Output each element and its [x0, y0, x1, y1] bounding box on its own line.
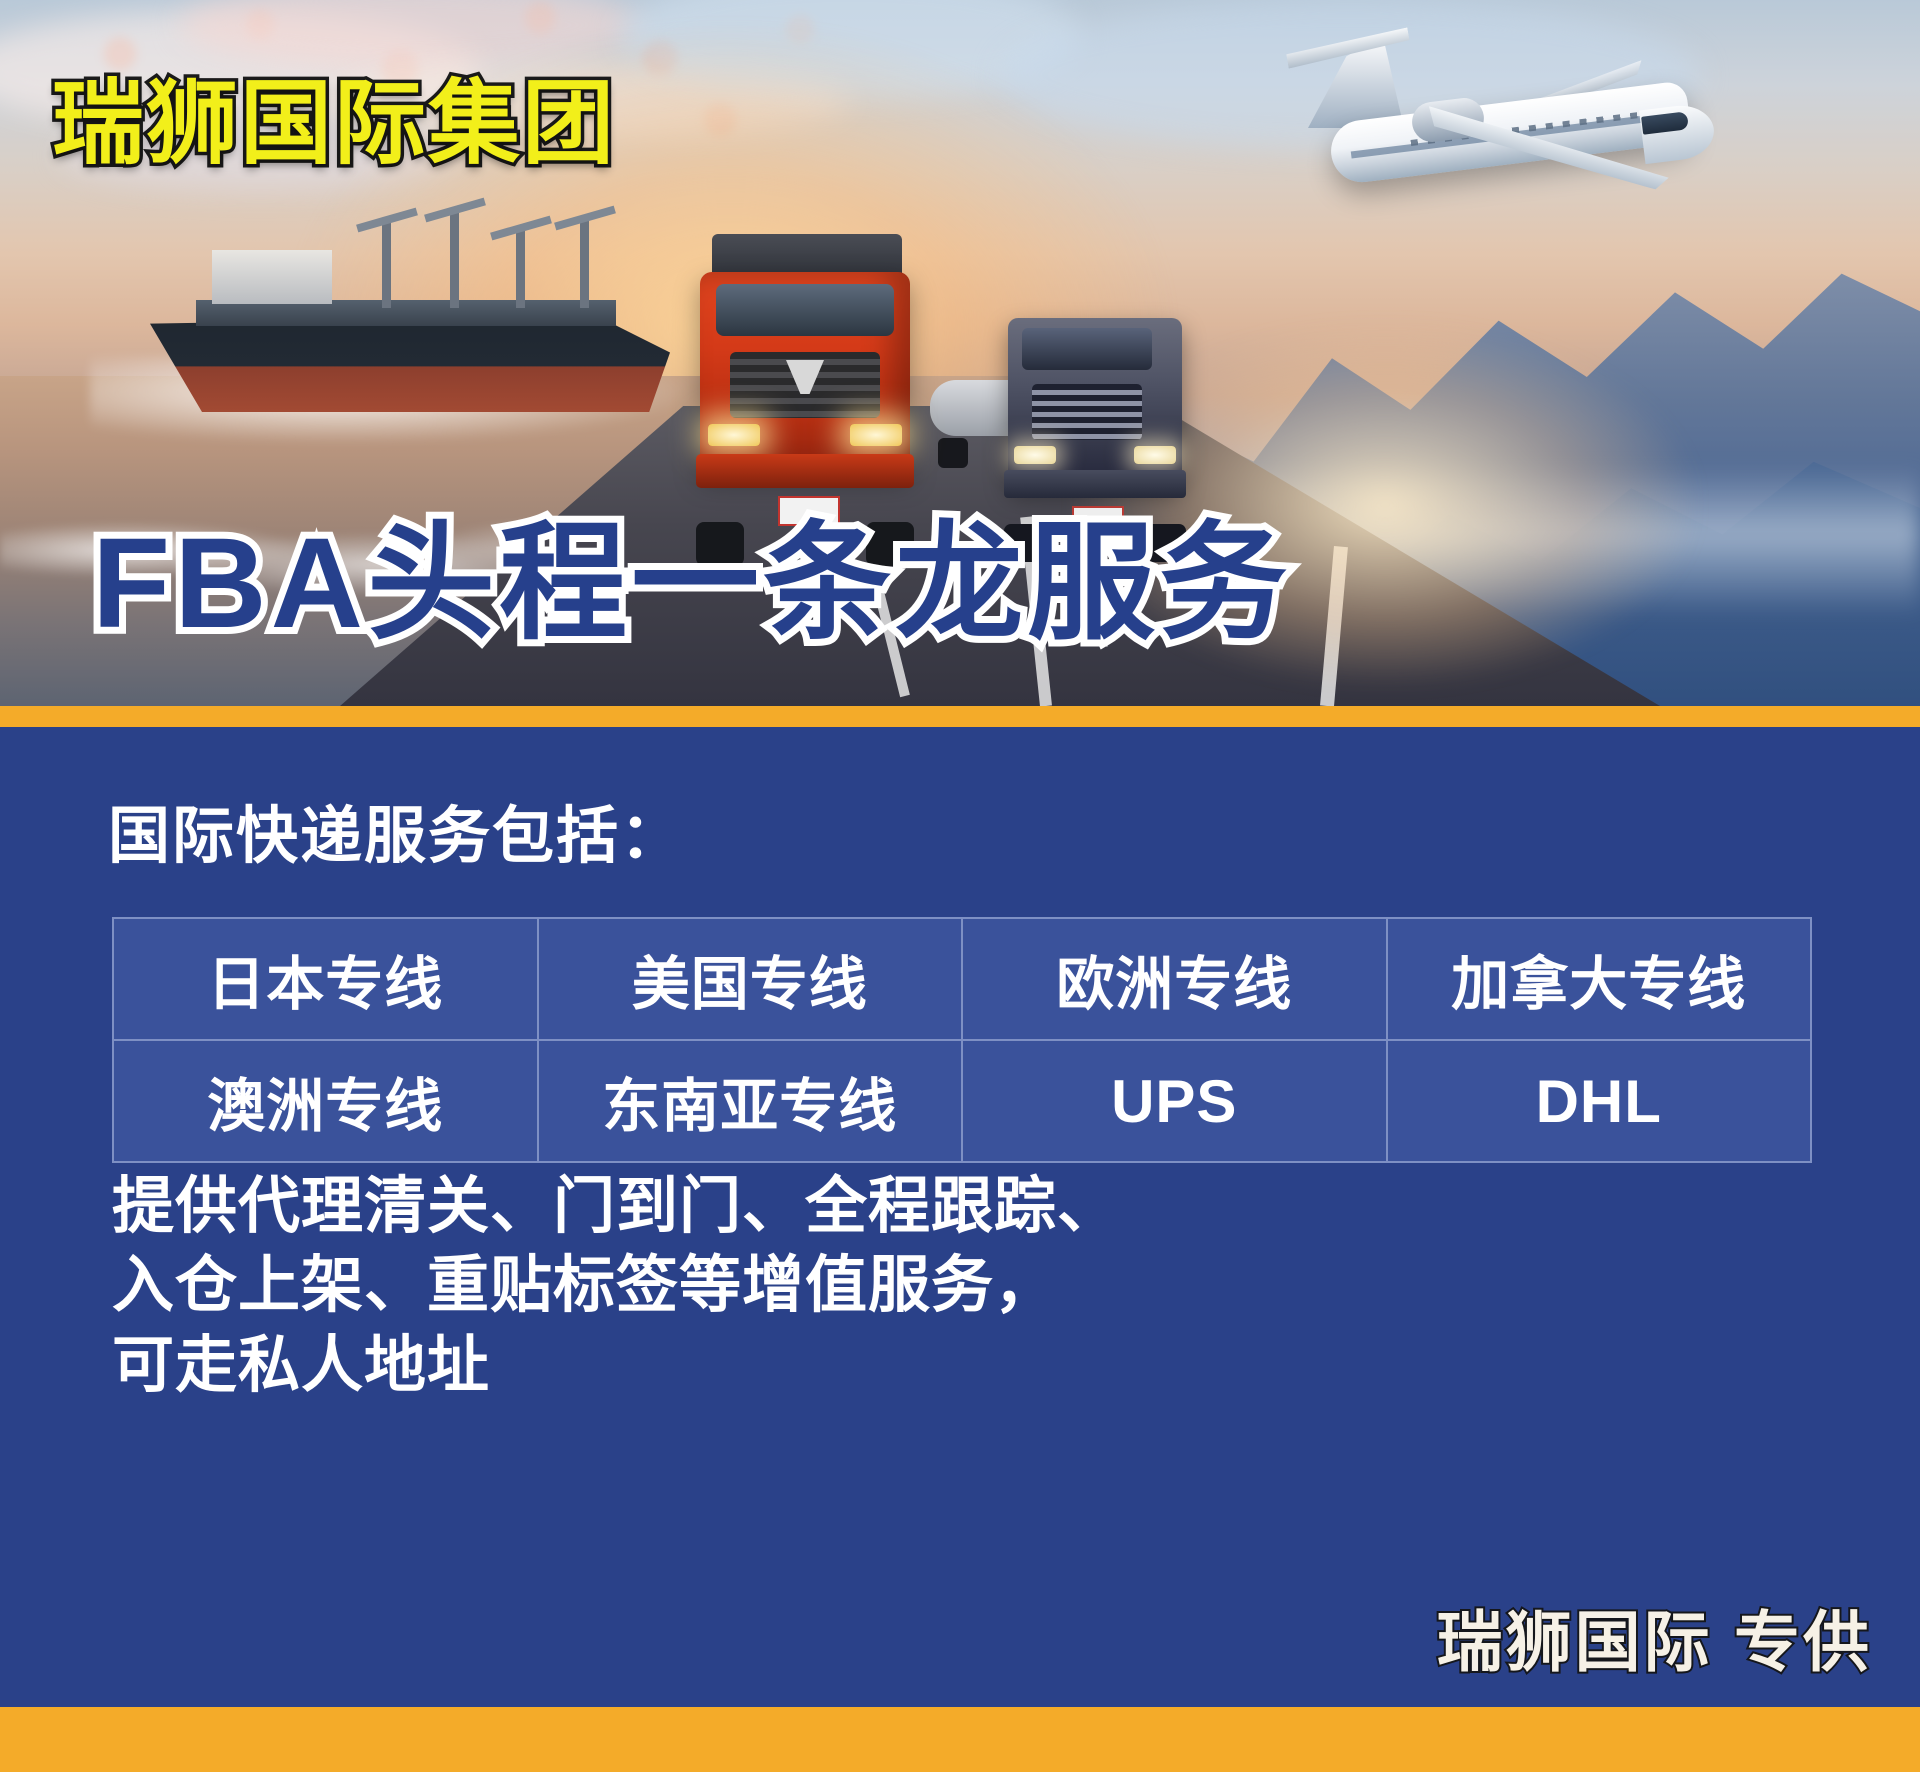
airplane-icon: [1290, 40, 1720, 240]
truck-headlight: [708, 424, 760, 446]
service-cell-sea: 东南亚专线: [538, 1040, 963, 1162]
info-panel: 国际快递服务包括： 日本专线 美国专线 欧洲专线 加拿大专线 澳洲专线 东南亚专…: [0, 727, 1920, 1707]
orange-divider-top: [0, 706, 1920, 727]
service-cell-dhl: DHL: [1387, 1040, 1812, 1162]
cargo-ship-icon: [150, 242, 670, 412]
truck-headlight: [850, 424, 902, 446]
truck-grille: [1032, 384, 1142, 440]
services-description: 提供代理清关、门到门、全程跟踪、 入仓上架、重贴标签等增值服务， 可走私人地址: [112, 1167, 1672, 1405]
truck-bumper: [696, 454, 914, 488]
services-table: 日本专线 美国专线 欧洲专线 加拿大专线 澳洲专线 东南亚专线 UPS DHL: [112, 917, 1812, 1163]
description-line-1: 提供代理清关、门到门、全程跟踪、: [112, 1167, 1672, 1246]
ship-bridge: [212, 250, 332, 304]
truck-windshield: [1022, 328, 1152, 370]
truck-headlight: [1014, 446, 1056, 464]
service-cell-ca: 加拿大专线: [1387, 918, 1812, 1040]
ship-crane: [382, 222, 391, 308]
truck-bumper: [1004, 470, 1186, 498]
ship-crane: [516, 230, 525, 308]
ship-hull: [150, 316, 670, 412]
service-cell-eu: 欧洲专线: [962, 918, 1387, 1040]
poster-root: 瑞狮国际集团 FBA头程一条龙服务 国际快递服务包括： 日本专线 美国专线 欧洲…: [0, 0, 1920, 1772]
ship-crane: [580, 220, 589, 308]
tanker-wheel: [938, 438, 968, 468]
service-cell-au: 澳洲专线: [113, 1040, 538, 1162]
brand-title: 瑞狮国际集团: [52, 78, 616, 170]
service-cell-jp: 日本专线: [113, 918, 538, 1040]
description-line-2: 入仓上架、重贴标签等增值服务，: [112, 1246, 1672, 1325]
table-row: 澳洲专线 东南亚专线 UPS DHL: [113, 1040, 1811, 1162]
hero-photo-collage: 瑞狮国际集团 FBA头程一条龙服务: [0, 0, 1920, 706]
company-signature: 瑞狮国际 专供: [1437, 1589, 1872, 1685]
truck-windshield: [716, 284, 894, 336]
service-cell-ups: UPS: [962, 1040, 1387, 1162]
orange-divider-bottom: [0, 1707, 1920, 1772]
description-line-3: 可走私人地址: [112, 1326, 1672, 1405]
hero-headline: FBA头程一条龙服务: [92, 520, 1291, 648]
table-row: 日本专线 美国专线 欧洲专线 加拿大专线: [113, 918, 1811, 1040]
ship-crane: [450, 212, 459, 308]
service-cell-us: 美国专线: [538, 918, 963, 1040]
panel-title: 国际快递服务包括：: [108, 785, 684, 875]
truck-headlight: [1134, 446, 1176, 464]
